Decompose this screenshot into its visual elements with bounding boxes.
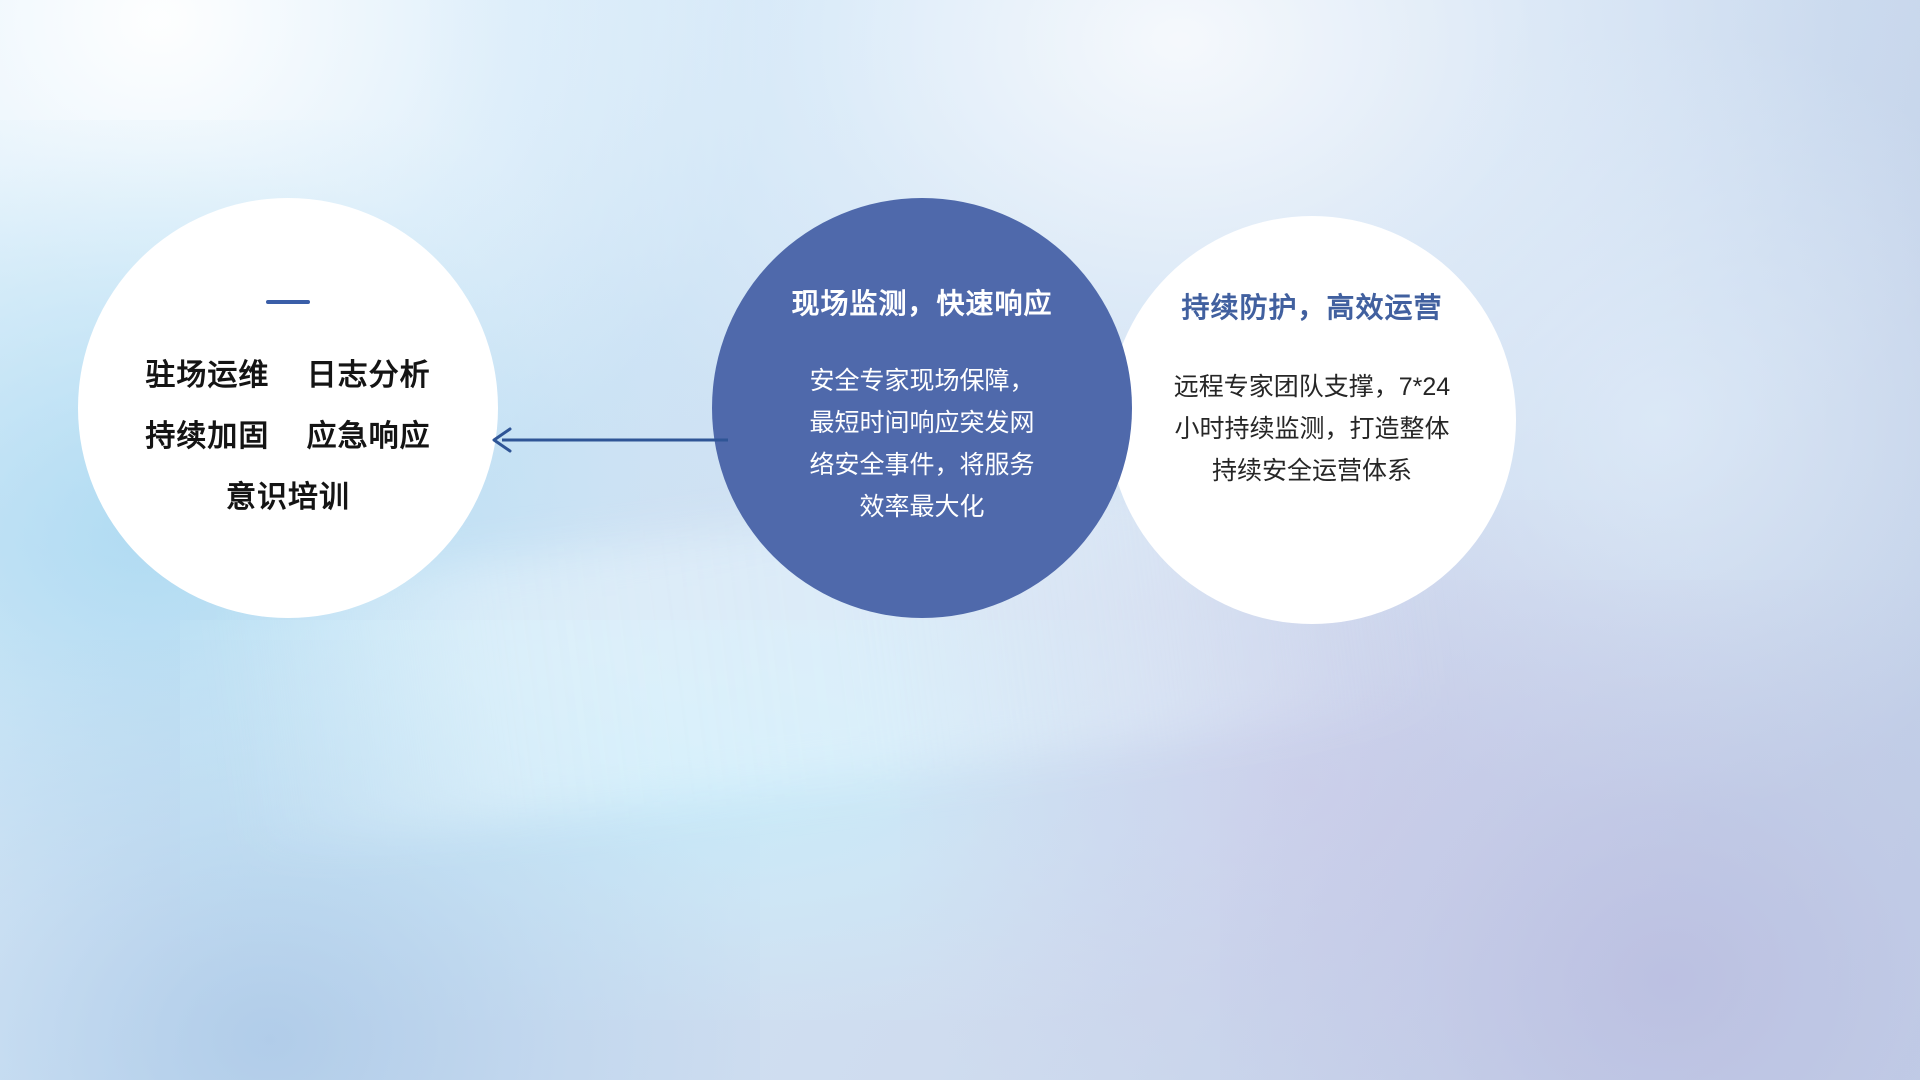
divider-dash-icon [266, 300, 310, 304]
onsite-monitoring-body-line-4: 效率最大化 [772, 486, 1072, 528]
slide-canvas: 驻场运维 日志分析 持续加固 应急响应 意识培训 持续防护，高效运营 远程专家团… [0, 0, 1920, 1080]
onsite-monitoring-body-line-1: 安全专家现场保障， [772, 360, 1072, 402]
onsite-monitoring-body-line-2: 最短时间响应突发网 [772, 402, 1072, 444]
capability-line-1: 驻场运维 日志分析 [145, 350, 430, 394]
onsite-monitoring-circle[interactable]: 现场监测，快速响应 安全专家现场保障， 最短时间响应突发网 络安全事件，将服务 … [712, 198, 1132, 618]
capability-line-2: 持续加固 应急响应 [145, 411, 430, 455]
continuous-protection-title: 持续防护，高效运营 [1181, 286, 1442, 326]
leftward-arrow-icon [480, 412, 730, 468]
onsite-monitoring-body: 安全专家现场保障， 最短时间响应突发网 络安全事件，将服务 效率最大化 [772, 360, 1072, 528]
continuous-protection-body-line-2: 小时持续监测，打造整体 [1135, 408, 1489, 450]
capability-line-3: 意识培训 [226, 472, 350, 516]
continuous-protection-body-line-1: 远程专家团队支撑，7*24 [1135, 366, 1489, 408]
continuous-protection-circle[interactable]: 持续防护，高效运营 远程专家团队支撑，7*24 小时持续监测，打造整体 持续安全… [1108, 216, 1516, 624]
capability-keyword-list: 驻场运维 日志分析 持续加固 应急响应 意识培训 [145, 350, 430, 516]
driver-capability-circle[interactable]: 驻场运维 日志分析 持续加固 应急响应 意识培训 [78, 198, 498, 618]
continuous-protection-body: 远程专家团队支撑，7*24 小时持续监测，打造整体 持续安全运营体系 [1135, 366, 1489, 492]
onsite-monitoring-body-line-3: 络安全事件，将服务 [772, 444, 1072, 486]
continuous-protection-body-line-3: 持续安全运营体系 [1135, 450, 1489, 492]
onsite-monitoring-title: 现场监测，快速响应 [791, 282, 1052, 322]
